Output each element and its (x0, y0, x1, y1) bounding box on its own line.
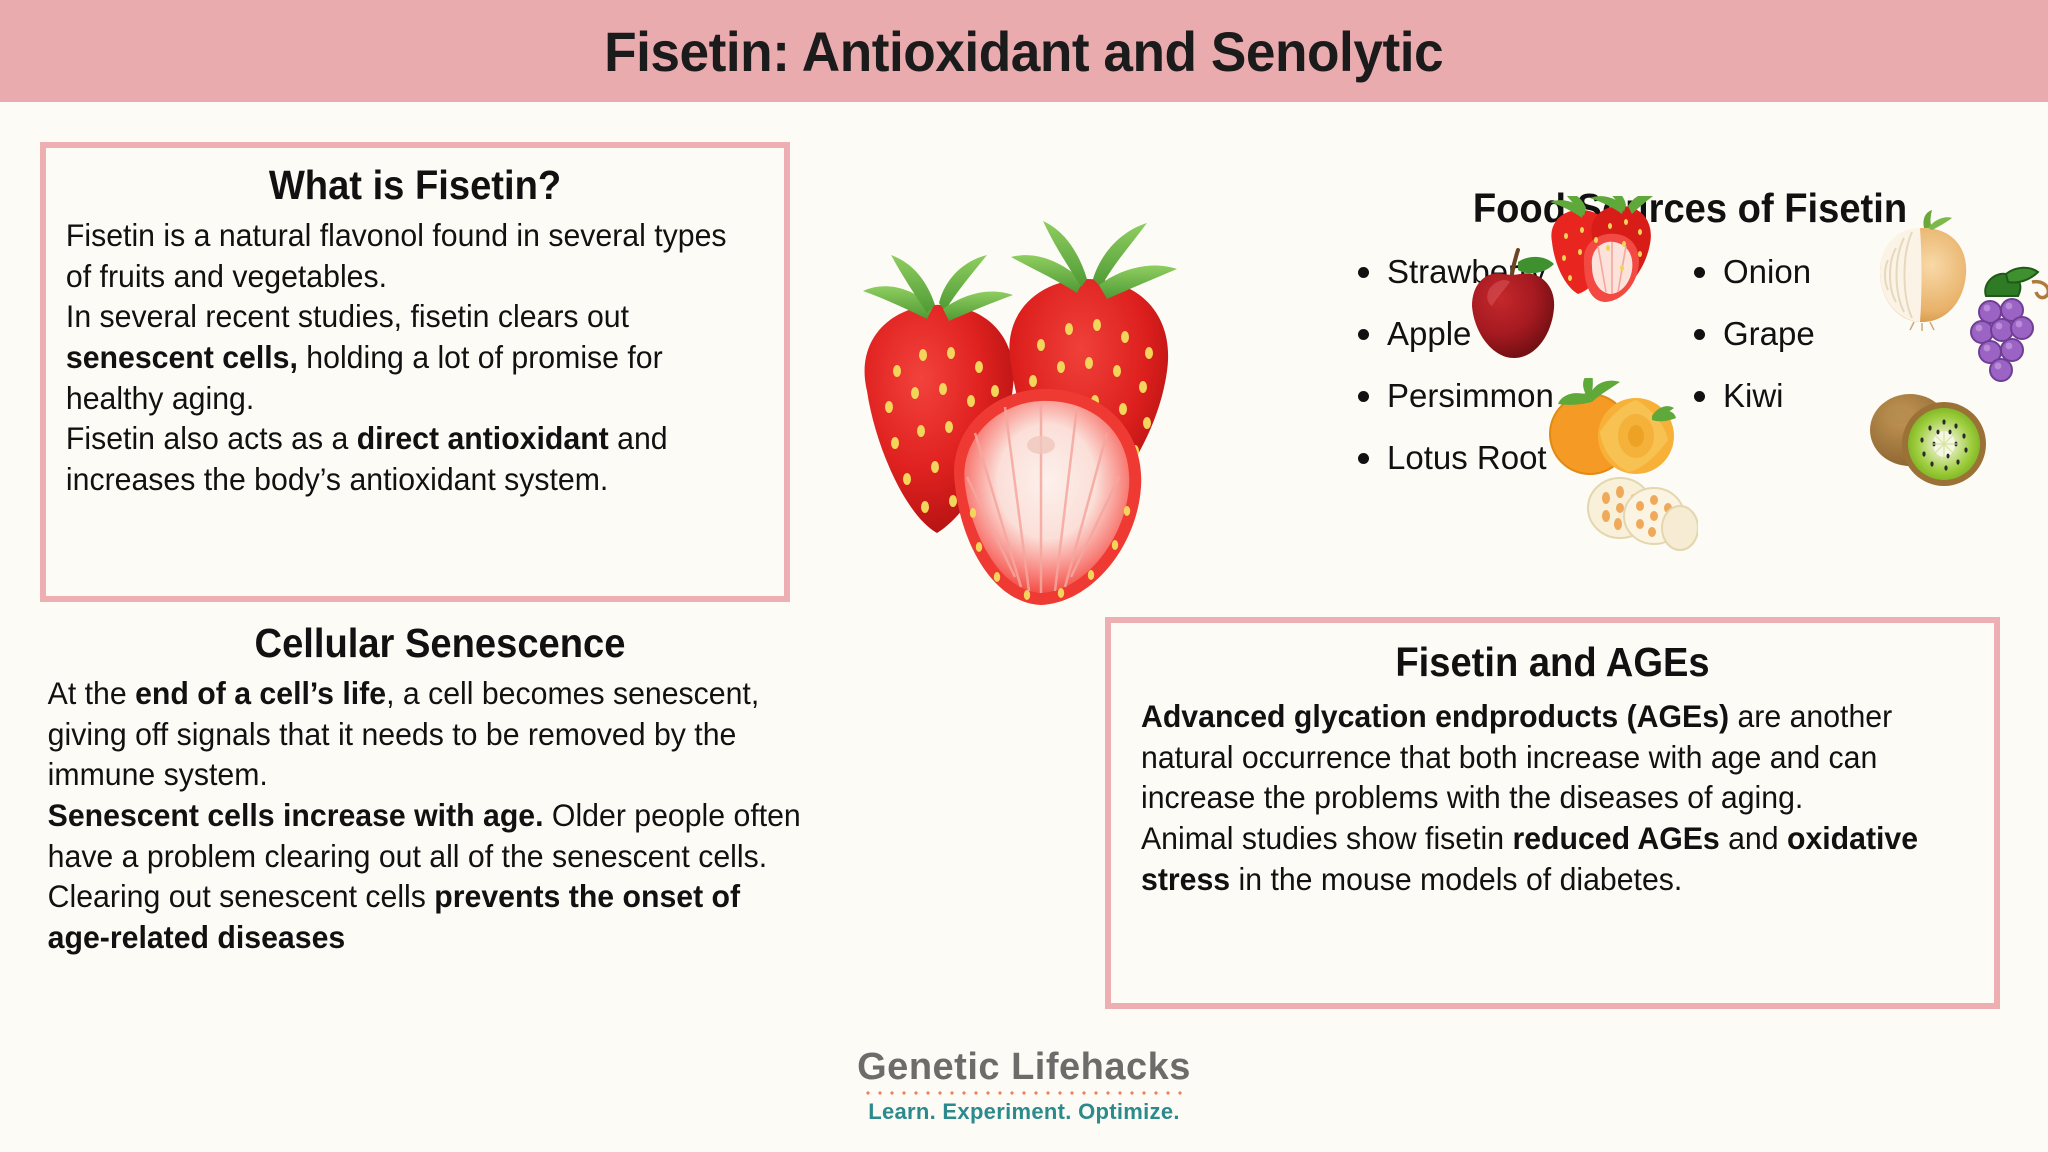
logo-name: Genetic Lifehacks (0, 1048, 2048, 1088)
list-item: Grape (1694, 308, 1970, 360)
what-is-fisetin-box: What is Fisetin? Fisetin is a natural fl… (40, 142, 790, 602)
cellular-senescence-section: Cellular Senescence At the end of a cell… (40, 620, 840, 957)
list-item: Kiwi (1694, 370, 1970, 422)
cellular-senescence-title: Cellular Senescence (68, 620, 812, 667)
paragraph: Fisetin also acts as a direct antioxidan… (66, 418, 736, 499)
list-item: Onion (1694, 246, 1970, 298)
food-item-label: Strawberry (1387, 253, 1547, 291)
cellular-senescence-text: At the end of a cell’s life, a cell beco… (40, 673, 808, 957)
paragraph: Clearing out senescent cells prevents th… (48, 876, 808, 957)
list-item: Persimmon (1358, 370, 1670, 422)
fisetin-and-ages-title: Fisetin and AGEs (1170, 639, 1935, 686)
paragraph: Senescent cells increase with age. Older… (48, 795, 808, 876)
food-sources-right-column: Onion Grape Kiwi (1670, 246, 1970, 494)
paragraph: Fisetin is a natural flavonol found in s… (66, 215, 736, 296)
bullet-icon (1358, 453, 1369, 464)
list-item: Lotus Root (1358, 432, 1670, 484)
food-item-label: Apple (1387, 315, 1471, 353)
food-item-label: Lotus Root (1387, 439, 1547, 477)
food-sources-section: Food Sources of Fisetin Strawberry Apple… (1340, 185, 2040, 494)
paragraph: At the end of a cell’s life, a cell beco… (48, 673, 808, 795)
food-sources-left-column: Strawberry Apple Persimmon Lotus Root (1340, 246, 1670, 494)
logo-dot-divider (859, 1089, 1189, 1097)
paragraph: Advanced glycation endproducts (AGEs) ar… (1141, 696, 1931, 818)
bullet-icon (1358, 267, 1369, 278)
food-sources-columns: Strawberry Apple Persimmon Lotus Root On… (1340, 246, 2040, 494)
food-item-label: Kiwi (1723, 377, 1784, 415)
paragraph: Animal studies show fisetin reduced AGEs… (1141, 818, 1931, 899)
what-is-fisetin-text: Fisetin is a natural flavonol found in s… (64, 215, 738, 499)
food-item-label: Onion (1723, 253, 1811, 291)
what-is-fisetin-title: What is Fisetin? (89, 162, 742, 209)
bullet-icon (1694, 267, 1705, 278)
logo-tagline: Learn. Experiment. Optimize. (0, 1099, 2048, 1125)
food-item-label: Grape (1723, 315, 1815, 353)
list-item: Apple (1358, 308, 1670, 360)
list-item: Strawberry (1358, 246, 1670, 298)
food-item-label: Persimmon (1387, 377, 1554, 415)
header-bar: Fisetin: Antioxidant and Senolytic (0, 0, 2048, 102)
bullet-icon (1694, 391, 1705, 402)
bullet-icon (1694, 329, 1705, 340)
site-logo: Genetic Lifehacks Learn. Experiment. Opt… (0, 1048, 2048, 1125)
bullet-icon (1358, 329, 1369, 340)
strawberries-photo (815, 195, 1235, 615)
bullet-icon (1358, 391, 1369, 402)
food-sources-title: Food Sources of Fisetin (1365, 185, 2016, 232)
fisetin-and-ages-text: Advanced glycation endproducts (AGEs) ar… (1141, 696, 1931, 899)
fisetin-and-ages-box: Fisetin and AGEs Advanced glycation endp… (1105, 617, 2000, 1009)
page-title: Fisetin: Antioxidant and Senolytic (604, 19, 1443, 84)
paragraph: In several recent studies, fisetin clear… (66, 296, 736, 418)
